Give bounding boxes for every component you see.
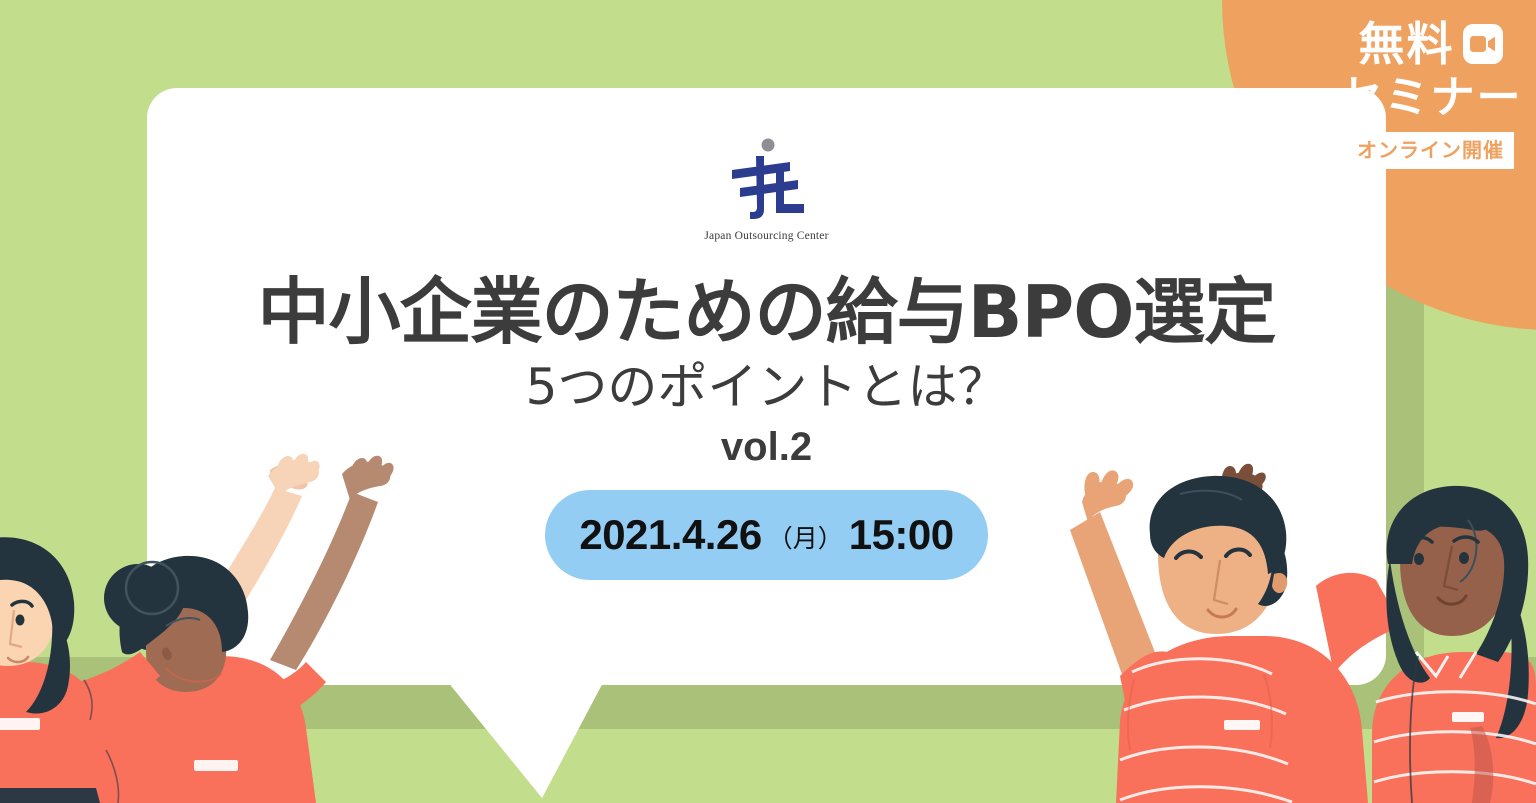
left-illustration [0, 430, 440, 803]
seminar-banner: 無料 セミナー オンライン開催 [0, 0, 1536, 803]
page-subtitle: 5つのポイントとは？ [526, 356, 1008, 418]
logo-wordmark: Japan Outsourcing Center [677, 230, 857, 242]
company-logo: Japan Outsourcing Center [677, 138, 857, 242]
volume-label: vol.2 [721, 422, 812, 472]
free-seminar-badge: 無料 セミナー オンライン開催 [1325, 18, 1536, 169]
event-date: 2021.4.26 [579, 511, 761, 559]
badge-line-free: 無料 [1325, 18, 1536, 70]
badge-online-pill: オンライン開催 [1347, 132, 1514, 169]
video-camera-icon [1463, 24, 1503, 64]
right-illustration [1020, 430, 1536, 803]
event-day-of-week: （月） [768, 519, 843, 555]
date-badge: 2021.4.26 （月） 15:00 [545, 490, 987, 580]
page-title: 中小企業のための給与BPO選定 [258, 270, 1276, 354]
joc-logo-mark [712, 138, 822, 224]
event-time: 15:00 [849, 511, 954, 559]
badge-seminar-text: セミナー [1325, 72, 1536, 124]
badge-free-text: 無料 [1359, 18, 1455, 70]
